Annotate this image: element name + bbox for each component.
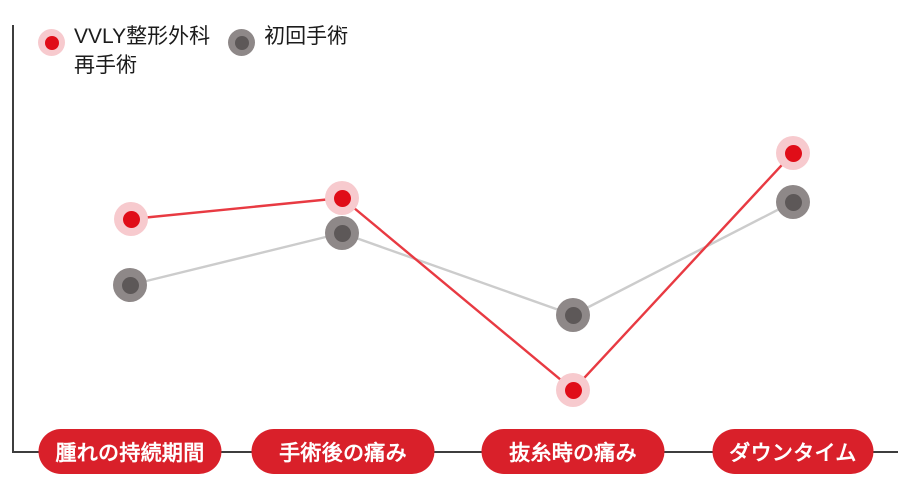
data-point-vvly-reoperation-2 [325, 181, 359, 215]
data-point-core [785, 194, 802, 211]
gray-dot-marker-icon [228, 29, 255, 56]
data-point-initial-surgery-3 [556, 298, 590, 332]
data-point-core [565, 307, 582, 324]
x-axis-category-pill-3[interactable]: 抜糸時の痛み [482, 429, 665, 474]
chart-legend: VVLY整形外科 再手術 初回手術 [38, 22, 348, 80]
legend-label-initial-surgery: 初回手術 [264, 22, 348, 51]
x-axis-category-pill-4[interactable]: ダウンタイム [713, 429, 874, 474]
line-series-initial-surgery [130, 202, 793, 315]
legend-item-vvly-reoperation: VVLY整形外科 再手術 [38, 22, 210, 80]
line-series-vvly-reoperation [131, 153, 793, 390]
data-point-vvly-reoperation-1 [114, 202, 148, 236]
legend-label-vvly-reoperation: VVLY整形外科 再手術 [74, 22, 210, 80]
legend-item-initial-surgery: 初回手術 [228, 22, 348, 56]
data-point-core [785, 145, 802, 162]
data-point-initial-surgery-4 [776, 185, 810, 219]
data-point-core [334, 190, 351, 207]
chart-container: VVLY整形外科 再手術 初回手術 腫れの持続期間手術後の痛み抜糸時の痛みダウン… [0, 0, 908, 492]
data-point-vvly-reoperation-3 [556, 373, 590, 407]
data-point-initial-surgery-1 [113, 268, 147, 302]
data-point-core [123, 211, 140, 228]
data-point-vvly-reoperation-4 [776, 136, 810, 170]
x-axis-category-pill-2[interactable]: 手術後の痛み [252, 429, 435, 474]
data-point-initial-surgery-2 [325, 216, 359, 250]
data-point-core [334, 225, 351, 242]
x-axis-category-pill-1[interactable]: 腫れの持続期間 [39, 429, 222, 474]
y-axis-line [12, 25, 14, 453]
data-point-core [122, 277, 139, 294]
red-dot-marker-icon [38, 29, 65, 56]
data-point-core [565, 382, 582, 399]
